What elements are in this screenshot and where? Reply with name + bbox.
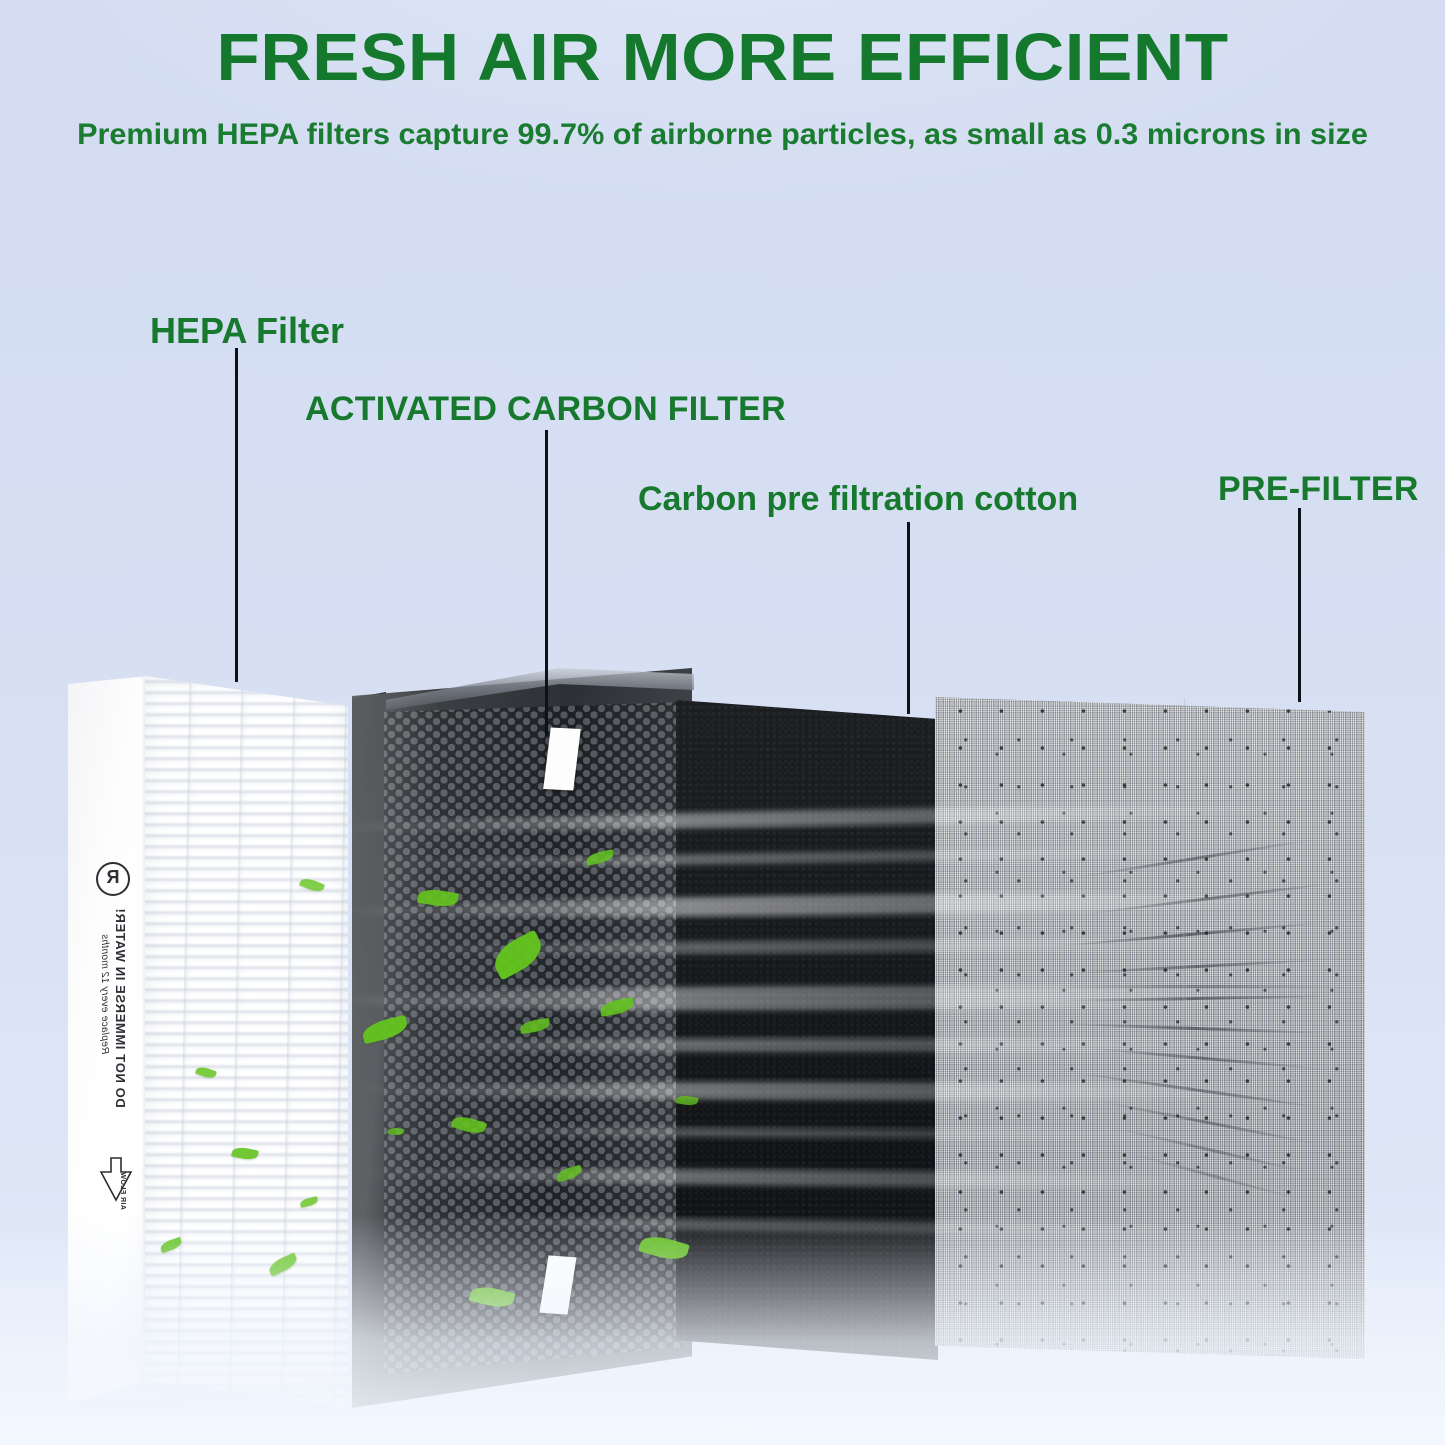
hepa-printed-warnings: R DO NOT IMMERSE IN WATER! Replace every…	[70, 856, 144, 1236]
do-not-immerse-text: DO NOT IMMERSE IN WATER!	[113, 908, 128, 1108]
callout-label-pre-filter: PRE-FILTER	[1218, 470, 1419, 509]
replace-interval-text: Replace every 12 months	[99, 934, 110, 1054]
pre-filter-dust-specks	[935, 697, 1365, 1359]
airflow-arrow-icon	[98, 1156, 134, 1202]
infographic-canvas: FRESH AIR MORE EFFICIENT Premium HEPA fi…	[0, 0, 1445, 1445]
filter-stack-illustration: R DO NOT IMMERSE IN WATER! Replace every…	[0, 0, 1445, 1445]
cotton-filter-panel	[676, 700, 938, 1360]
callout-leader-cotton	[907, 522, 910, 714]
pre-filter-crease	[1183, 697, 1186, 1359]
callout-leader-carbon	[545, 430, 548, 736]
airflow-label: AIR FLOW	[119, 1172, 126, 1210]
carbon-side-wall	[352, 692, 386, 1408]
carbon-honeycomb-cells	[384, 702, 684, 1374]
pre-filter-panel	[935, 697, 1365, 1359]
registered-mark-icon: R	[96, 862, 130, 896]
hepa-filter-panel: R DO NOT IMMERSE IN WATER! Replace every…	[68, 676, 348, 1406]
carbon-filter-panel	[352, 668, 692, 1408]
callout-label-hepa: HEPA Filter	[150, 310, 344, 352]
callout-label-cotton: Carbon pre filtration cotton	[638, 480, 1078, 519]
hepa-pleat-seams	[145, 676, 348, 1406]
callout-leader-hepa	[235, 348, 238, 682]
callout-label-carbon: ACTIVATED CARBON FILTER	[305, 390, 786, 429]
cotton-foam-face	[676, 700, 938, 1360]
callout-leader-pre-filter	[1298, 508, 1301, 702]
